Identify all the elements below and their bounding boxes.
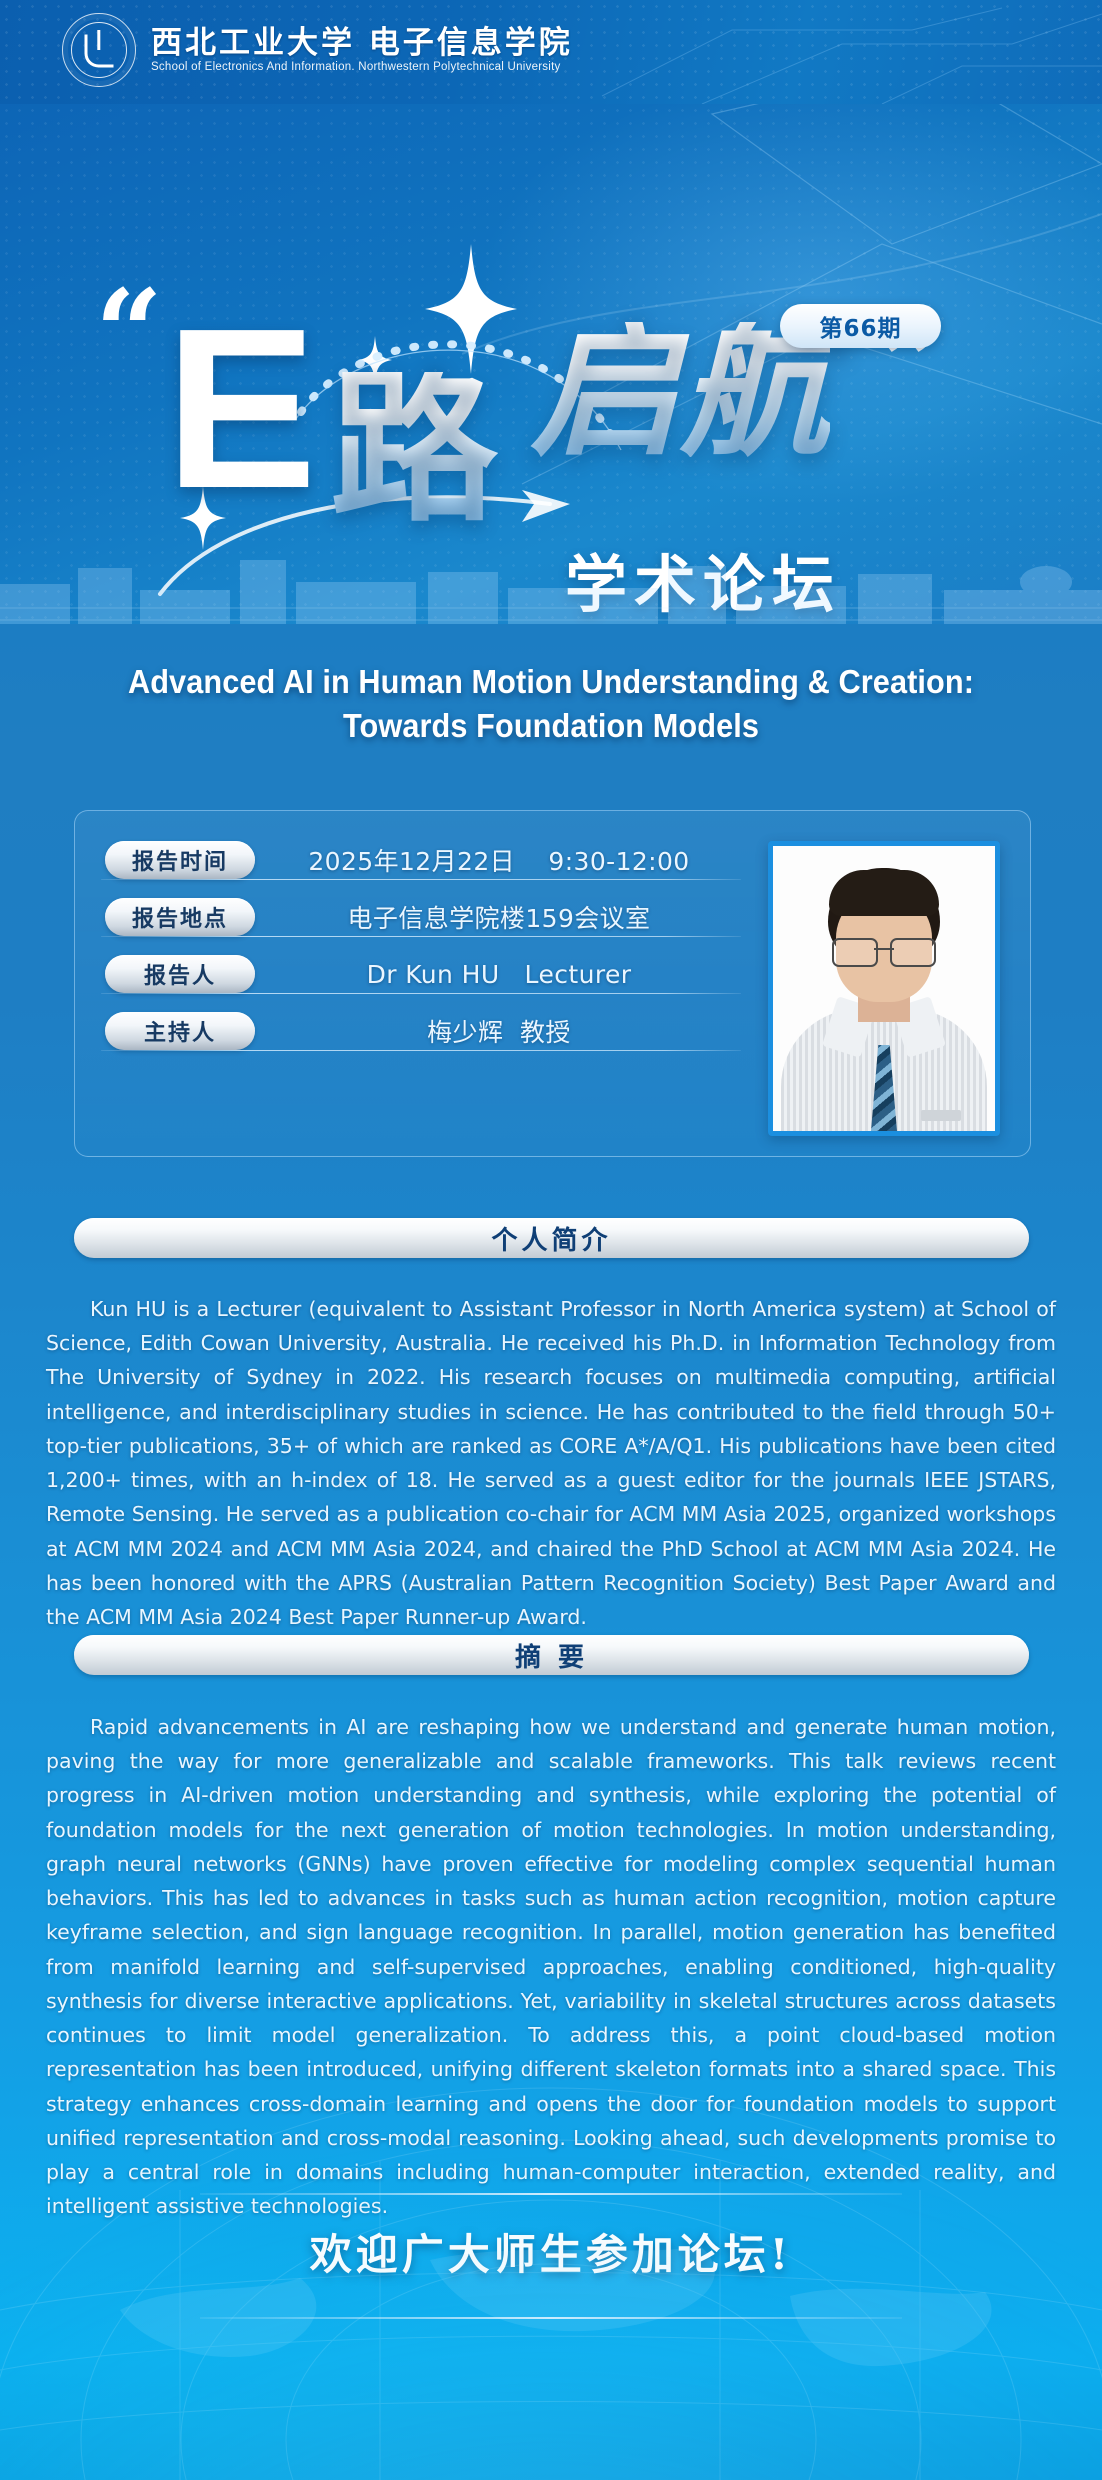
welcome-message: 欢迎广大师生参加论坛!: [0, 2221, 1102, 2282]
hero-letter-e: E: [165, 316, 311, 503]
info-row-location: 报告地点 电子信息学院楼159会议室: [101, 898, 741, 937]
issue-number-label: 第66期: [819, 309, 901, 343]
university-name-en: School of Electronics And Information. N…: [151, 61, 573, 73]
university-name-cn: 西北工业大学 电子信息学院: [151, 27, 573, 60]
section-header-bio: 个人简介: [74, 1218, 1029, 1258]
info-row-time: 报告时间 2025年12月22日 9:30-12:00: [101, 841, 741, 880]
speaker-photo-frame: [768, 841, 1000, 1136]
event-info-card: 报告时间 2025年12月22日 9:30-12:00 报告地点 电子信息学院楼…: [74, 810, 1031, 1157]
university-seal-icon: [62, 13, 136, 87]
info-row-underline: [101, 936, 741, 937]
info-row-speaker: 报告人 Dr Kun HU Lecturer: [101, 955, 741, 994]
section-title-bio: 个人简介: [491, 1220, 611, 1257]
hero-banner: “ ” E 路 启航 学术论坛 第66期: [0, 104, 1102, 624]
info-label-chip-time: 报告时间: [105, 841, 255, 879]
info-label-location: 报告地点: [132, 901, 228, 933]
bio-paragraph: Kun HU is a Lecturer (equivalent to Assi…: [46, 1292, 1056, 1634]
info-value-location: 电子信息学院楼159会议室: [261, 898, 737, 936]
info-row-underline: [101, 879, 741, 880]
issue-number-badge: 第66期: [780, 304, 941, 348]
info-value-time: 2025年12月22日 9:30-12:00: [261, 841, 737, 879]
info-row-underline: [101, 993, 741, 994]
page-header: 西北工业大学 电子信息学院 School of Electronics And …: [0, 0, 1102, 104]
info-value-host: 梅少辉 教授: [261, 1012, 737, 1050]
info-row-underline: [101, 1050, 741, 1051]
speaker-portrait-image: [773, 846, 995, 1131]
poster-root: 西北工业大学 电子信息学院 School of Electronics And …: [0, 0, 1102, 2480]
talk-title-line-2: Towards Foundation Models: [91, 704, 1012, 748]
info-row-host: 主持人 梅少辉 教授: [101, 1012, 741, 1051]
eyeglasses-icon: [832, 938, 936, 964]
skyline-decoration: [0, 538, 1102, 624]
section-title-abstract: 摘 要: [515, 1637, 588, 1674]
welcome-divider-bottom: [200, 2317, 902, 2319]
info-label-time: 报告时间: [132, 844, 228, 876]
event-info-rows: 报告时间 2025年12月22日 9:30-12:00 报告地点 电子信息学院楼…: [101, 841, 741, 1051]
hero-word-qihang: 启航: [530, 322, 830, 457]
info-label-chip-location: 报告地点: [105, 898, 255, 936]
header-brand: 西北工业大学 电子信息学院 School of Electronics And …: [62, 13, 573, 87]
hero-word-lu: 路: [330, 372, 498, 523]
info-label-chip-speaker: 报告人: [105, 955, 255, 993]
info-value-speaker: Dr Kun HU Lecturer: [261, 955, 737, 993]
quote-open-mark: “: [95, 292, 163, 375]
welcome-block: 欢迎广大师生参加论坛!: [0, 2185, 1102, 2325]
header-circuit-lines: [582, 0, 1102, 104]
abstract-paragraph: Rapid advancements in AI are reshaping h…: [46, 1710, 1056, 2224]
info-label-chip-host: 主持人: [105, 1012, 255, 1050]
info-label-host: 主持人: [144, 1015, 216, 1047]
welcome-divider-top: [200, 2193, 902, 2195]
info-label-speaker: 报告人: [144, 958, 216, 990]
section-header-abstract: 摘 要: [74, 1635, 1029, 1675]
page-title: Advanced AI in Human Motion Understandin…: [91, 660, 1012, 748]
talk-title-line-1: Advanced AI in Human Motion Understandin…: [91, 660, 1012, 704]
